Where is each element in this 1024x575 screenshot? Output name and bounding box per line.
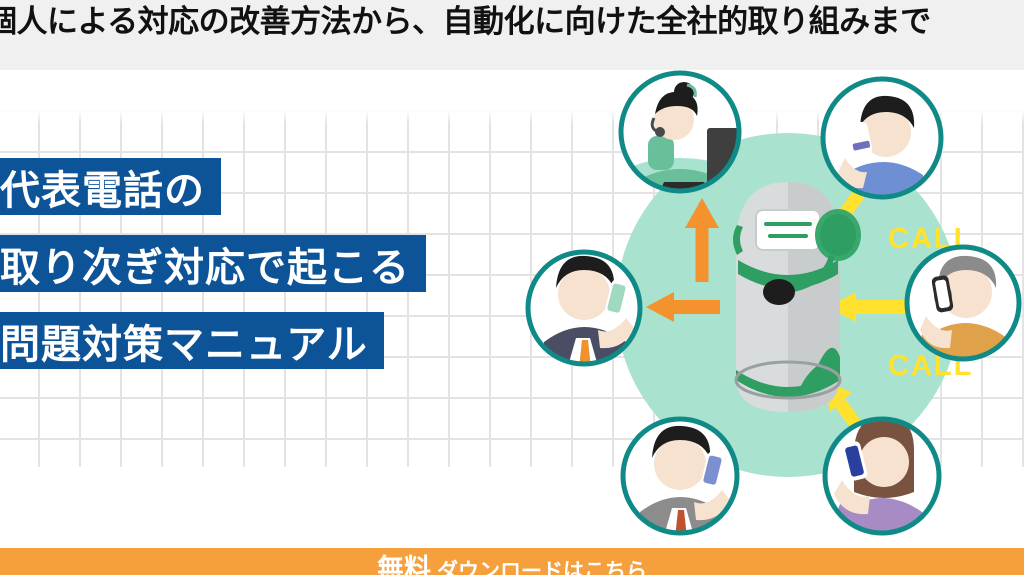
hero-stage: 代表電話の 取り次ぎ対応で起こる 問題対策マニュアル 株式会社 電話放送局 de… (0, 70, 1024, 575)
node-staff-suit-gray (623, 419, 737, 538)
download-cta-content[interactable]: 無料 ダウンロードはこちら (0, 548, 1024, 575)
cta-label: ダウンロードはこちら (437, 556, 647, 575)
hero-title-line-1: 代表電話の (0, 158, 221, 215)
cta-emphasis-label: 無料 (377, 556, 431, 575)
hero-illustration: CALL CALL (488, 70, 1024, 560)
download-cta-bar[interactable]: 無料 ダウンロードはこちら (0, 548, 1024, 575)
page-headline: 個人による対応の改善方法から、自動化に向けた全社的取り組みまで (0, 2, 931, 42)
top-headline-band: 個人による対応の改善方法から、自動化に向けた全社的取り組みまで (0, 0, 1024, 70)
hero-title-line-2: 取り次ぎ対応で起こる (0, 235, 426, 292)
node-staff-suit-navy (528, 252, 640, 368)
node-caller-woman (825, 416, 939, 538)
hero-title-line-3: 問題対策マニュアル (0, 312, 384, 369)
